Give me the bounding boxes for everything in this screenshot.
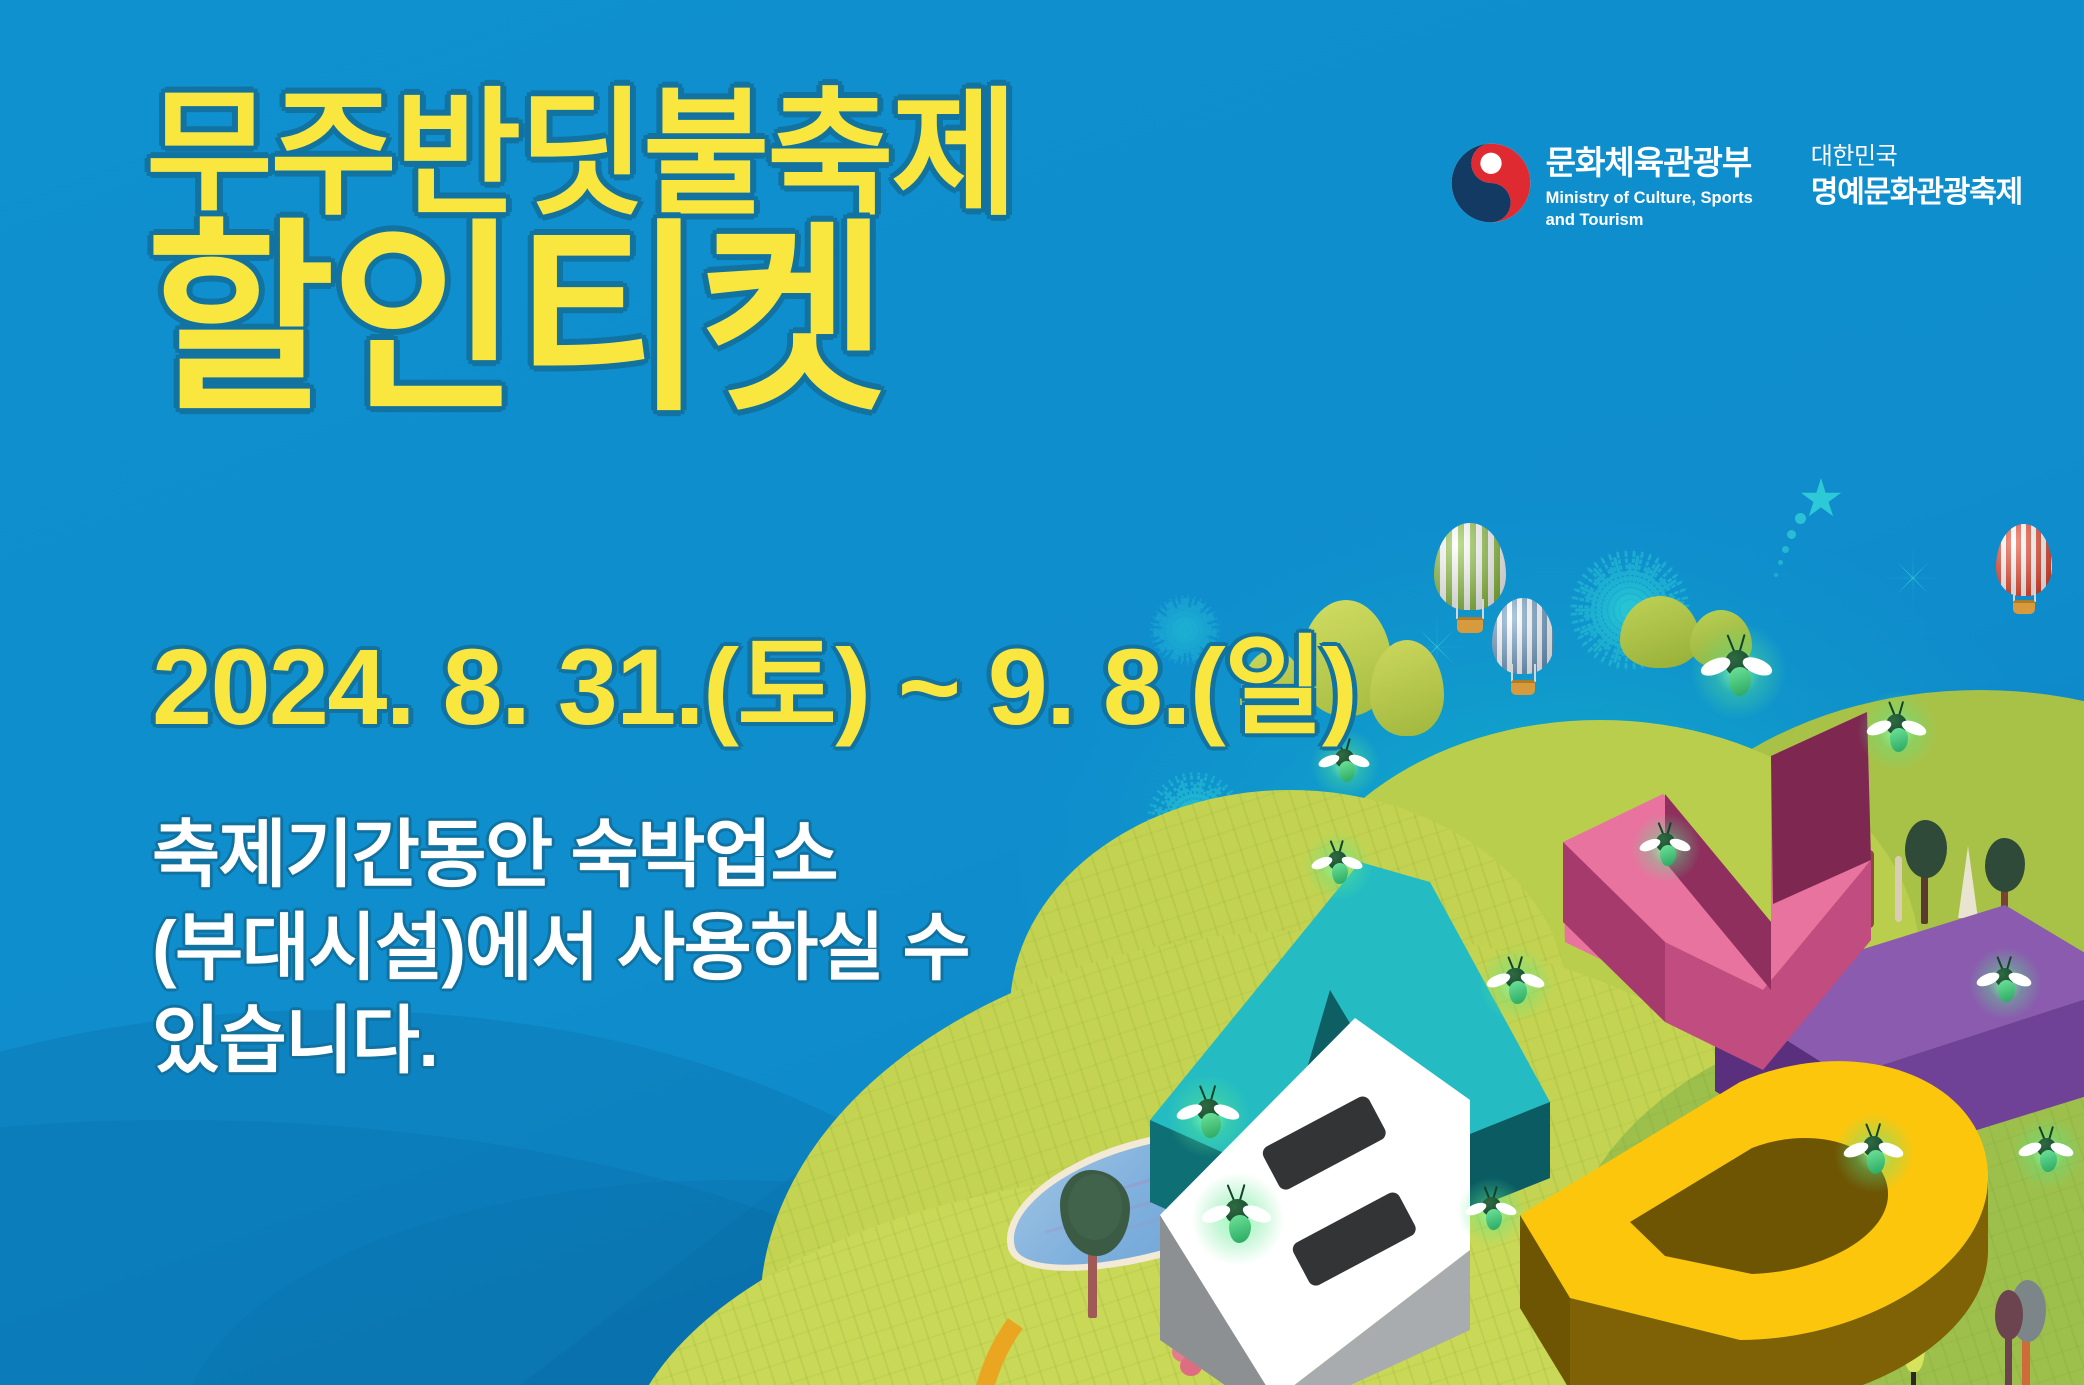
star-trail-dot	[1795, 513, 1806, 524]
star-trail-dot	[1782, 546, 1789, 553]
star-trail-dot	[1774, 573, 1778, 577]
description-line-3: 있습니다.	[152, 994, 969, 1087]
taegeuk-emblem-icon	[1450, 142, 1532, 224]
honor-festival-logo: 대한민국 명예문화관광축제	[1811, 140, 2022, 209]
honor-festival-subtitle: 대한민국	[1811, 144, 2022, 170]
ministry-logo-text: 문화체육관광부 Ministry of Culture, Sports and …	[1546, 140, 1753, 230]
event-date-range: 2024. 8. 31.(토) ~ 9. 8.(일)	[152, 600, 1356, 756]
logo-row: 문화체육관광부 Ministry of Culture, Sports and …	[1450, 140, 2022, 230]
letter-d-yellow	[1490, 1040, 2050, 1385]
red-balloon	[1996, 524, 2052, 616]
blue-balloon	[1492, 598, 1554, 696]
ministry-name-korean: 문화체육관광부	[1546, 146, 1753, 181]
ministry-name-english-line2: and Tourism	[1546, 210, 1753, 230]
star-trail-dot	[1787, 530, 1796, 539]
description-line-2: (부대시설)에서 사용하실 수	[152, 901, 969, 994]
poster-title: 무주반딧불축제 할인티켓	[146, 86, 1015, 423]
description-line-1: 축제기간동안 숙박업소	[152, 808, 969, 901]
firefly-icon	[1984, 960, 2026, 1002]
firefly-icon	[1472, 1190, 1512, 1230]
firefly-icon	[1185, 1090, 1233, 1138]
title-line-2: 할인티켓	[146, 218, 1015, 423]
firefly-icon	[1646, 826, 1686, 866]
firefly-icon	[1494, 960, 1538, 1004]
poster-canvas: 무주반딧불축제 할인티켓 2024. 8. 31.(토) ~ 9. 8.(일) …	[0, 0, 2084, 1385]
honor-festival-title: 명예문화관광축제	[1811, 176, 2022, 209]
firefly-icon	[1874, 706, 1920, 752]
firefly-icon	[1211, 1189, 1265, 1243]
firefly-icon	[1851, 1128, 1897, 1174]
sparkle-star-2	[1880, 545, 1946, 611]
firefly-icon	[1710, 640, 1766, 696]
star-trail-dot	[1778, 560, 1783, 565]
poster-description: 축제기간동안 숙박업소 (부대시설)에서 사용하실 수 있습니다.	[152, 808, 969, 1088]
ministry-name-english-line1: Ministry of Culture, Sports	[1546, 188, 1753, 208]
firefly-icon	[1318, 844, 1358, 884]
firefly-icon	[2026, 1130, 2068, 1172]
ministry-logo: 문화체육관광부 Ministry of Culture, Sports and …	[1450, 140, 1753, 230]
title-line-1: 무주반딧불축제	[146, 86, 1015, 224]
